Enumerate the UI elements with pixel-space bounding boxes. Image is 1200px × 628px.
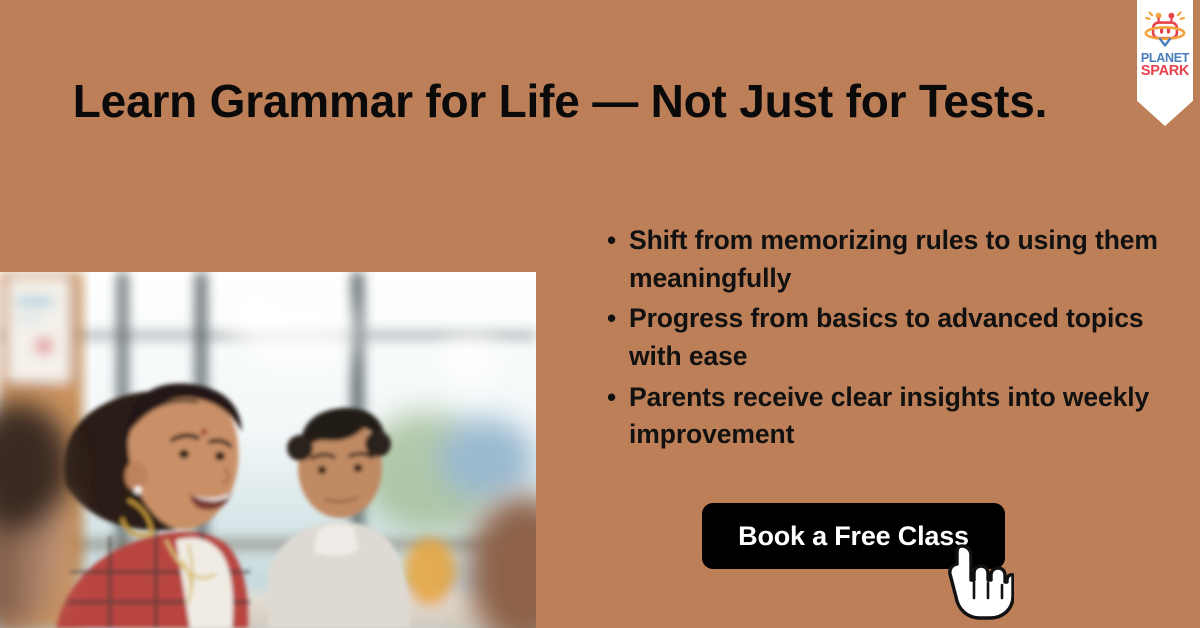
- bullet-icon: •: [607, 222, 629, 259]
- photo-illustration: [0, 272, 536, 628]
- list-item: • Parents receive clear insights into we…: [607, 379, 1187, 454]
- page-headline: Learn Grammar for Life — Not Just for Te…: [60, 72, 1060, 131]
- bullet-icon: •: [607, 300, 629, 337]
- classroom-students-photo: [0, 272, 536, 628]
- list-item-label: Progress from basics to advanced topics …: [629, 300, 1187, 375]
- book-free-class-label: Book a Free Class: [738, 521, 969, 552]
- logo-text-spark: SPARK: [1141, 64, 1189, 79]
- planetspark-logo-banner[interactable]: PLANET SPARK: [1137, 0, 1193, 126]
- list-item: • Progress from basics to advanced topic…: [607, 300, 1187, 375]
- bullet-icon: •: [607, 379, 629, 416]
- list-item: • Shift from memorizing rules to using t…: [607, 222, 1187, 297]
- list-item-label: Shift from memorizing rules to using the…: [629, 222, 1187, 297]
- benefits-list: • Shift from memorizing rules to using t…: [607, 222, 1187, 457]
- book-free-class-button[interactable]: Book a Free Class: [702, 503, 1005, 569]
- planet-robot-icon: [1143, 7, 1187, 51]
- list-item-label: Parents receive clear insights into week…: [629, 379, 1187, 454]
